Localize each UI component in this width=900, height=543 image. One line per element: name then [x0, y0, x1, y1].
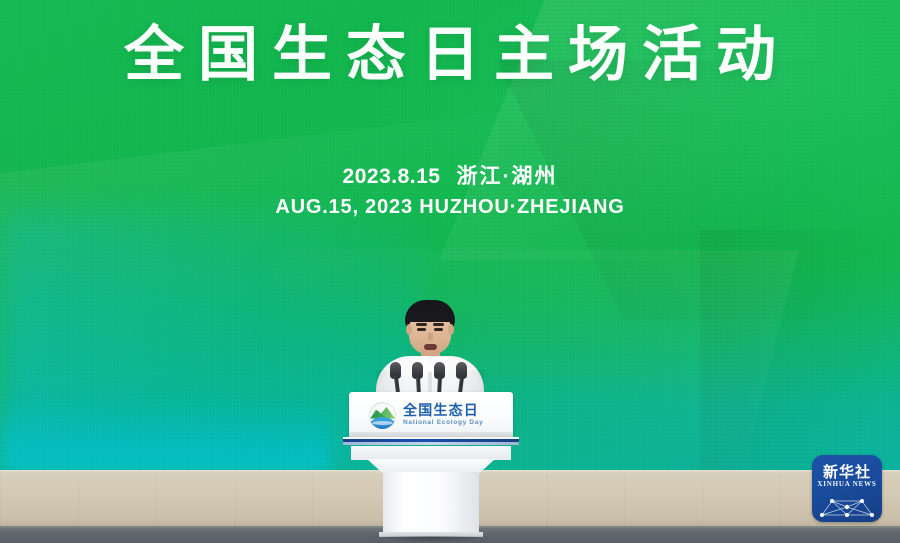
podium-logo-english: National Ecology Day [403, 420, 483, 427]
podium-taper [367, 459, 495, 473]
podium-logo-chinese: 全国生态日 [403, 403, 483, 417]
speaker-eyebrow-left [416, 323, 427, 326]
podium-mid-band [351, 446, 511, 460]
podium-floor-shadow [371, 536, 491, 542]
speaking-podium: 全国生态日 National Ecology Day [343, 392, 519, 543]
podium-logo: 全国生态日 National Ecology Day [369, 400, 503, 430]
mountain-water-emblem-icon [369, 402, 396, 429]
speaker-ear-left [406, 324, 412, 335]
event-main-title: 全国生态日主场活动 [0, 22, 900, 88]
podium-stripe-light-blue [343, 442, 519, 445]
xinhua-brand-chinese: 新华社 [812, 461, 882, 482]
xinhua-news-watermark: 新华社 XINHUA NEWS [812, 455, 882, 522]
emblem-wave-highlight [372, 421, 393, 425]
speaker-eye-right [434, 328, 443, 331]
speaker-nose [428, 333, 433, 341]
speaker-hair-fringe [406, 305, 454, 322]
speaker-ear-right [448, 324, 454, 335]
speaker-eye-left [417, 328, 426, 331]
event-location-chinese: 浙江·湖州 [456, 165, 557, 188]
event-subtitle-chinese: 2023.8.15浙江·湖州 [0, 160, 900, 190]
xinhua-brand-english: XINHUA NEWS [812, 480, 882, 488]
podium-column [383, 472, 479, 535]
podium-logo-text: 全国生态日 National Ecology Day [403, 403, 483, 427]
screenshot-root: 全国生态日主场活动 2023.8.15浙江·湖州 AUG.15, 2023 HU… [0, 0, 900, 543]
speaker-eyebrow-right [433, 323, 444, 326]
event-subtitle-english: AUG.15, 2023 HUZHOU·ZHEJIANG [0, 196, 900, 219]
event-date-chinese: 2023.8.15 [343, 165, 441, 188]
network-nodes-icon [812, 489, 882, 522]
